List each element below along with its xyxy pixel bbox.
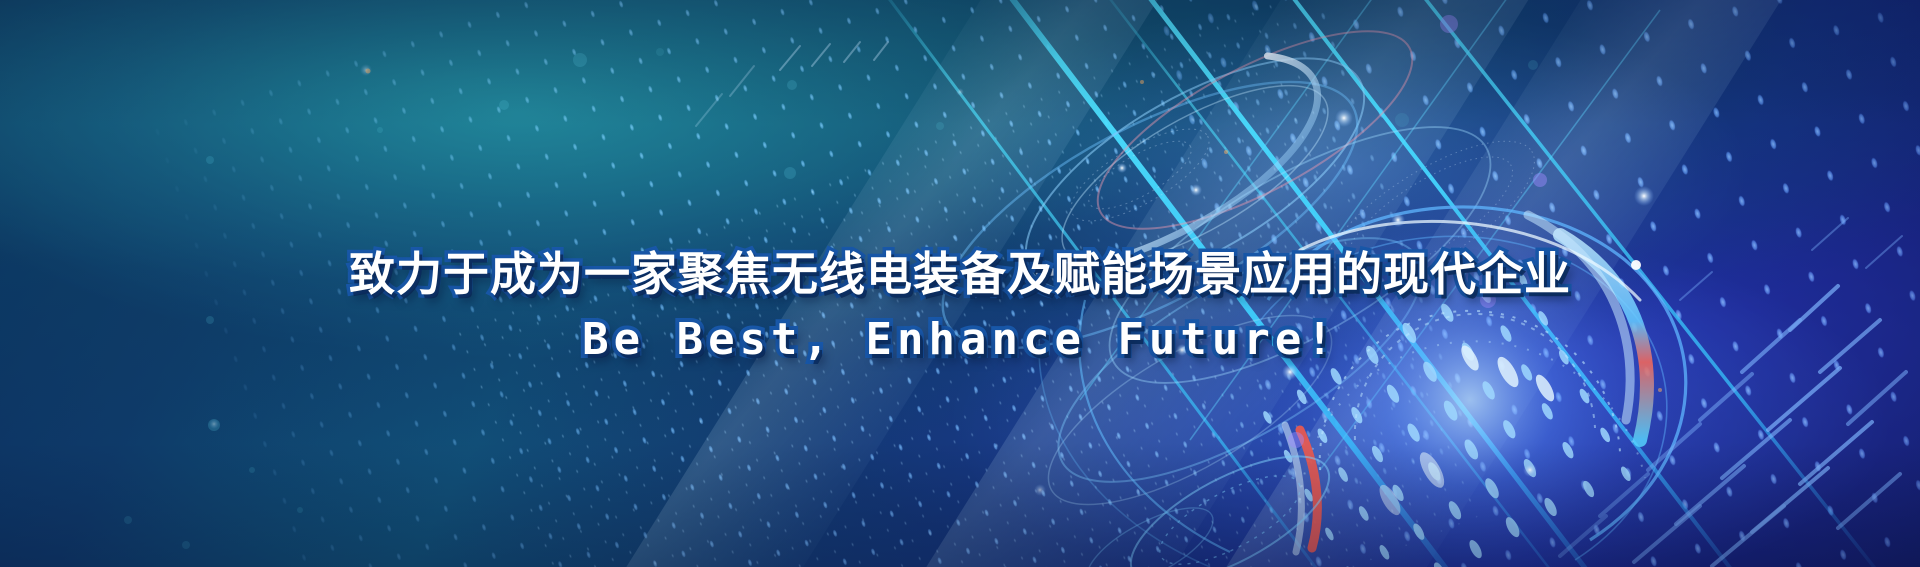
hero-banner: 致力于成为一家聚焦无线电装备及赋能场景应用的现代企业 Be Best, Enha… xyxy=(0,0,1920,567)
vignette-overlay xyxy=(0,0,1920,567)
